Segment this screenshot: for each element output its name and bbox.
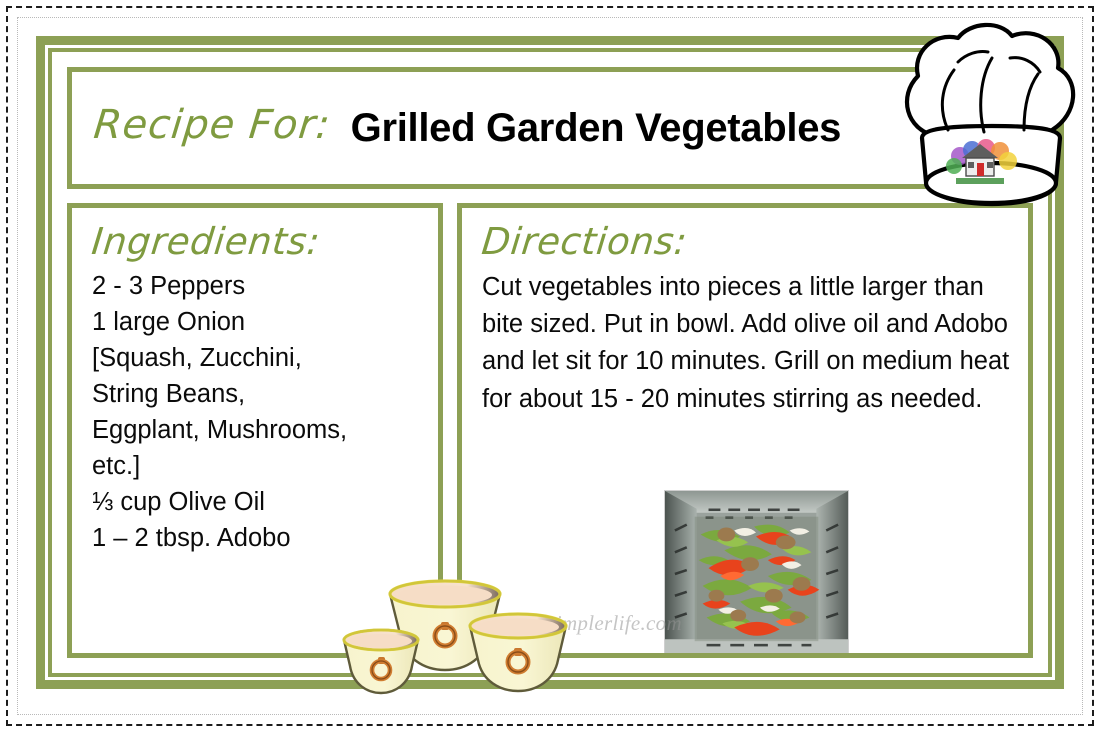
mixing-bowl-medium xyxy=(470,614,566,691)
directions-text: Cut vegetables into pieces a little larg… xyxy=(482,269,1012,418)
list-item: String Beans, xyxy=(92,377,422,413)
ingredients-heading: Ingredients: xyxy=(90,220,425,263)
recipe-card-page: Recipe For: Grilled Garden Vegetables In… xyxy=(0,0,1100,732)
list-item: Eggplant, Mushrooms, xyxy=(92,413,422,449)
list-item: ⅓ cup Olive Oil xyxy=(92,485,422,521)
list-item: 1 – 2 tbsp. Adobo xyxy=(92,521,422,557)
recipe-for-label: Recipe For: xyxy=(92,102,333,148)
chef-hat-icon xyxy=(888,18,1094,218)
list-item: etc.] xyxy=(92,449,422,485)
list-item: 2 - 3 Peppers xyxy=(92,269,422,305)
list-item: [Squash, Zucchini, xyxy=(92,341,422,377)
mixing-bowls-icon xyxy=(338,578,568,703)
chef-hat-illustration xyxy=(888,18,1094,218)
directions-heading: Directions: xyxy=(480,220,1015,263)
list-item: 1 large Onion xyxy=(92,305,422,341)
ingredients-list: 2 - 3 Peppers 1 large Onion [Squash, Zuc… xyxy=(92,269,422,557)
mixing-bowl-small xyxy=(344,630,418,693)
mixing-bowls-illustration xyxy=(338,578,568,703)
grill-basket-illustration xyxy=(665,491,848,657)
grilled-vegetables-photo xyxy=(664,490,849,658)
page-title: Grilled Garden Vegetables xyxy=(351,106,841,151)
